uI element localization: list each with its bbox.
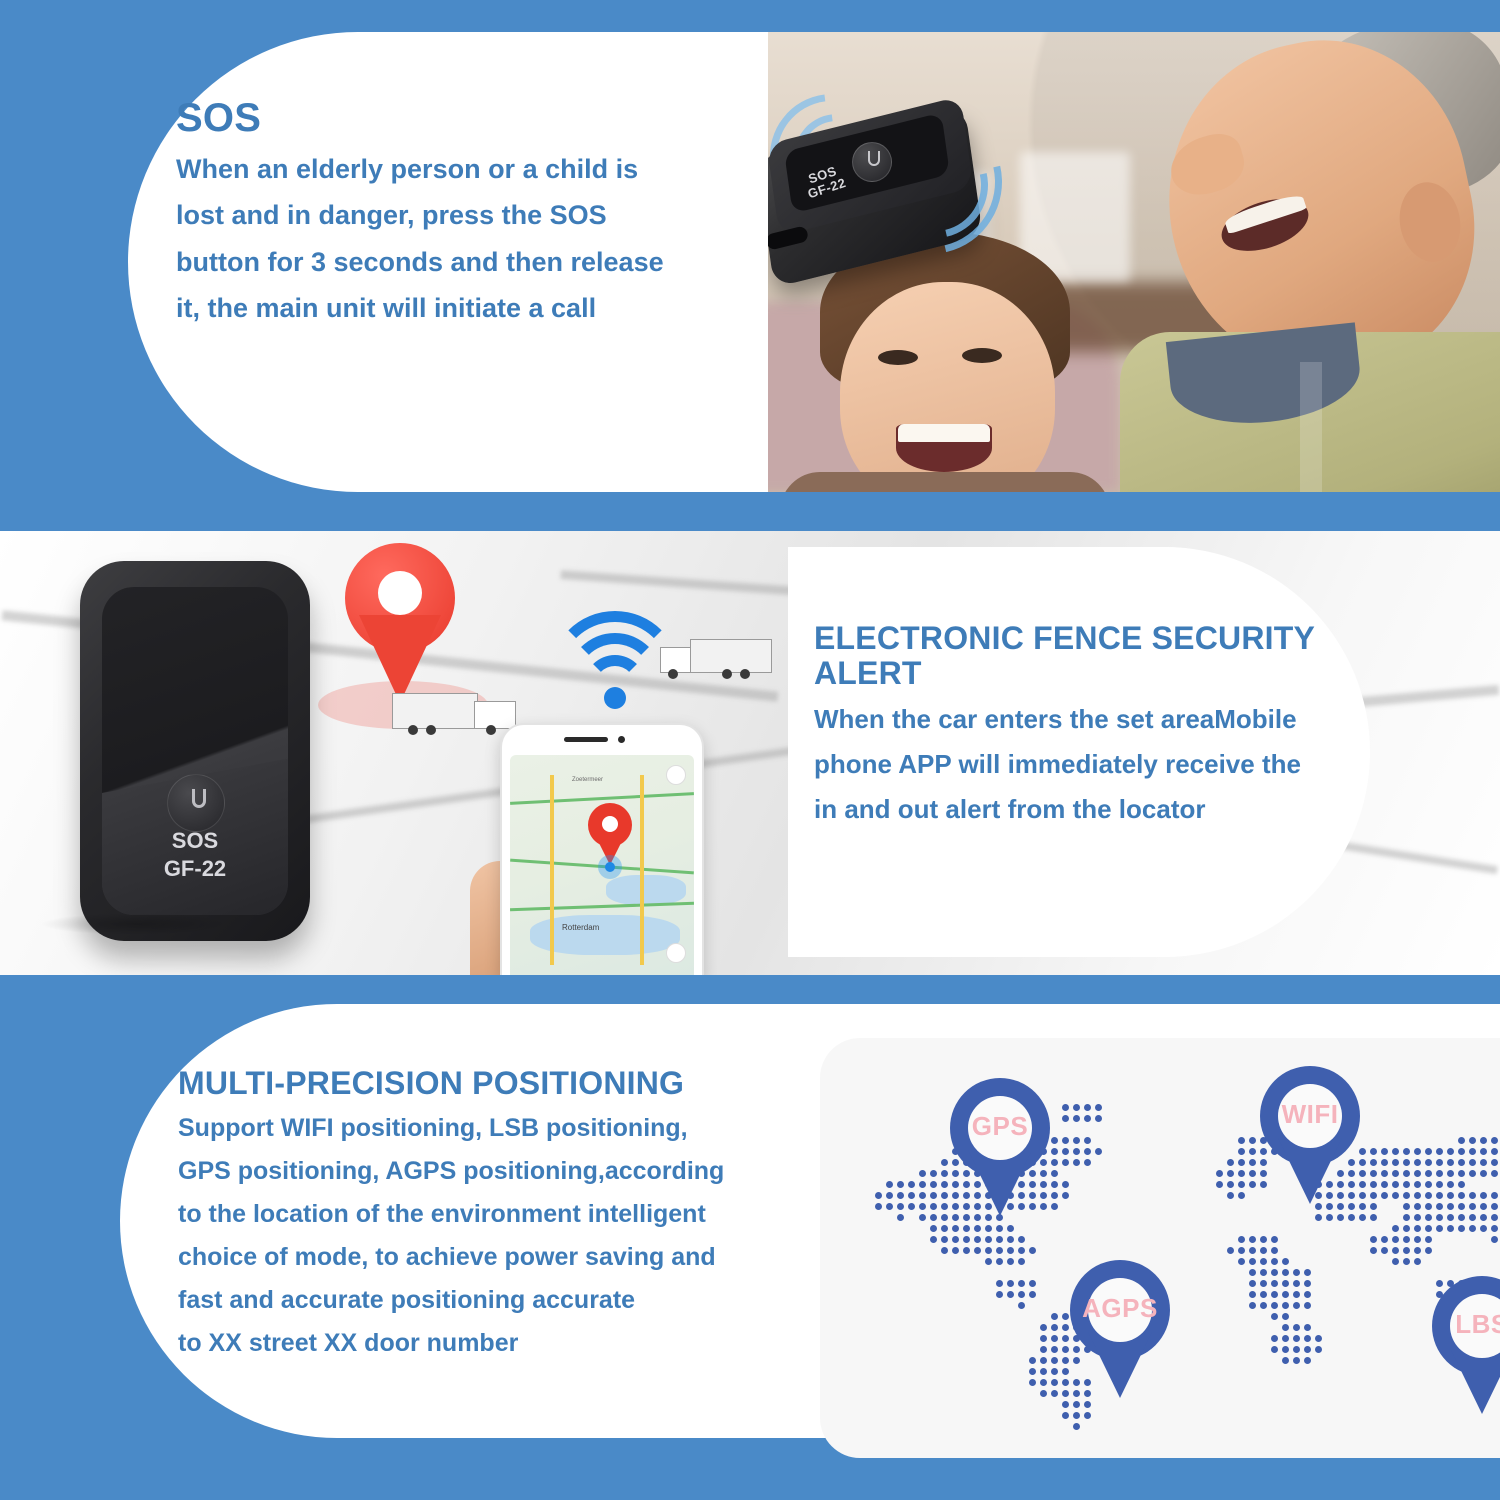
truck-wheel — [408, 725, 418, 735]
positioning-text-block: MULTI-PRECISION POSITIONING Support WIFI… — [178, 1066, 738, 1365]
truck-cab — [474, 701, 516, 729]
electronic-fence-body-line: phone APP will immediately receive the — [814, 742, 1354, 787]
positioning-body-line: Support WIFI positioning, LSB positionin… — [178, 1107, 738, 1150]
positioning-card: MULTI-PRECISION POSITIONING Support WIFI… — [120, 1004, 1500, 1438]
map-road — [550, 775, 554, 965]
boy-left-eye — [878, 350, 918, 365]
positioning-title: MULTI-PRECISION POSITIONING — [178, 1066, 738, 1101]
boy-shirt — [780, 472, 1110, 492]
map-pin-label: LBS — [1432, 1309, 1500, 1340]
map-pin-agps: AGPS — [1070, 1260, 1170, 1400]
phone-camera-icon — [618, 736, 625, 743]
truck-wheel — [486, 725, 496, 735]
truck-cab — [660, 647, 694, 673]
red-location-pin-icon — [345, 543, 455, 703]
electronic-fence-text-card: ELECTRONIC FENCE SECURITY ALERT When the… — [790, 547, 1370, 957]
positioning-body-line: to the location of the environment intel… — [178, 1193, 738, 1236]
truck-wheel — [426, 725, 436, 735]
electronic-fence-text-block: ELECTRONIC FENCE SECURITY ALERT When the… — [814, 621, 1354, 832]
sos-text-card: SOS When an elderly person or a child is… — [128, 32, 768, 492]
sos-title: SOS — [176, 96, 736, 140]
panel-sos: SOS GF-22 SOS When an elderly person or … — [0, 0, 1500, 525]
device-label: SOS GF-22 — [80, 827, 310, 882]
truck-wheel — [668, 669, 678, 679]
map-layers-button[interactable] — [666, 765, 686, 785]
current-location-dot — [598, 855, 622, 879]
device-sos-text: SOS — [80, 827, 310, 855]
truck-wheel — [740, 669, 750, 679]
positioning-body-line: fast and accurate positioning accurate — [178, 1279, 738, 1322]
positioning-body-line: GPS positioning, AGPS positioning,accord… — [178, 1150, 738, 1193]
panel-multi-precision-positioning: MULTI-PRECISION POSITIONING Support WIFI… — [0, 978, 1500, 1500]
truck-trailer — [690, 639, 772, 673]
sos-body-line: it, the main unit will initiate a call — [176, 285, 736, 331]
map-place-label: Zoetermeer — [572, 777, 603, 783]
sos-body-line: button for 3 seconds and then release — [176, 239, 736, 285]
map-pin-label: GPS — [950, 1111, 1050, 1142]
truck-trailer — [392, 693, 478, 729]
map-pin-label: AGPS — [1070, 1293, 1170, 1324]
sos-body-line: When an elderly person or a child is — [176, 146, 736, 192]
pin-hole — [378, 571, 422, 615]
device-model-text: GF-22 — [80, 855, 310, 883]
map-pin-lbs: LBS — [1432, 1276, 1500, 1416]
device-shadow — [40, 913, 230, 935]
panel-electronic-fence: SOS GF-22 — [0, 531, 1500, 975]
infographic-page: SOS GF-22 SOS When an elderly person or … — [0, 0, 1500, 1500]
sos-body-line: lost and in danger, press the SOS — [176, 192, 736, 238]
smartphone-mockup: Zoetermeer Rotterdam — [500, 723, 704, 975]
truck-wheel — [722, 669, 732, 679]
truck-icon — [660, 637, 778, 689]
map-locate-button[interactable] — [666, 943, 686, 963]
power-button-icon — [167, 774, 225, 832]
wifi-dot — [604, 687, 626, 709]
electronic-fence-body-line: When the car enters the set areaMobile — [814, 697, 1354, 742]
electronic-fence-title: ELECTRONIC FENCE SECURITY ALERT — [814, 621, 1354, 691]
electronic-fence-body-line: in and out alert from the locator — [814, 787, 1354, 832]
map-road — [510, 902, 694, 911]
wifi-icon — [560, 611, 670, 711]
map-pin-wifi: WIFI — [1260, 1066, 1360, 1206]
phone-map-screen: Zoetermeer Rotterdam — [510, 755, 694, 975]
dotted-world-map: GPS WIFI AGPS LBS — [820, 1038, 1500, 1458]
gps-tracker-device-front: SOS GF-22 — [80, 561, 310, 941]
phone-speaker — [564, 737, 608, 742]
map-place-label: Rotterdam — [562, 923, 599, 932]
map-pin-gps: GPS — [950, 1078, 1050, 1218]
pin-tip — [1450, 1348, 1500, 1414]
positioning-body-line: choice of mode, to achieve power saving … — [178, 1236, 738, 1279]
boy-teeth — [898, 424, 990, 442]
map-pin-label: WIFI — [1260, 1099, 1360, 1130]
positioning-body-line: to XX street XX door number — [178, 1322, 738, 1365]
map-road — [640, 775, 644, 965]
pin-hole — [602, 816, 618, 832]
sos-text-block: SOS When an elderly person or a child is… — [176, 96, 736, 332]
boy-right-eye — [962, 348, 1002, 363]
gps-tracker-device-isometric: SOS GF-22 — [742, 72, 1012, 302]
shirt-placket — [1300, 362, 1322, 492]
water-area — [606, 875, 686, 905]
